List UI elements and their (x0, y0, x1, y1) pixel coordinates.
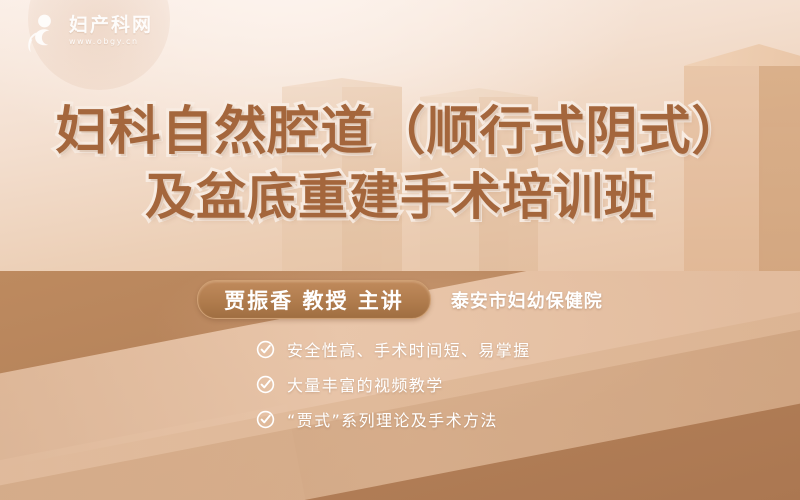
logo-title: 妇产科网 (69, 16, 153, 36)
cube-left-face (282, 87, 342, 271)
feature-list: 安全性高、手术时间短、易掌握 大量丰富的视频教学 “贾式”系列理论及手术方法 (0, 336, 800, 432)
check-circle-icon (256, 410, 275, 429)
speaker-organization: 泰安市妇幼保健院 (451, 287, 603, 313)
decorative-cube-small-center (420, 88, 538, 271)
cube-right-face (759, 66, 800, 271)
feature-label: 安全性高、手术时间短、易掌握 (287, 337, 531, 361)
logo-url: www.obgy.cn (69, 36, 153, 48)
cube-left-face (684, 66, 759, 271)
course-promo-banner: 妇产科网 www.obgy.cn 妇科自然腔道（顺行式阴式） 及盆底重建手术培训… (0, 0, 800, 500)
list-item: 大量丰富的视频教学 (256, 371, 444, 397)
mother-and-baby-icon (24, 12, 62, 52)
cube-right-face (342, 87, 402, 271)
speaker-badge: 贾振香 教授 主讲 (197, 280, 431, 319)
check-circle-icon (256, 340, 275, 359)
list-item: “贾式”系列理论及手术方法 (256, 406, 498, 432)
feature-label: “贾式”系列理论及手术方法 (287, 407, 498, 431)
feature-label: 大量丰富的视频教学 (287, 372, 444, 396)
site-logo[interactable]: 妇产科网 www.obgy.cn (24, 12, 153, 52)
cube-right-face (479, 97, 538, 271)
cube-left-face (420, 97, 479, 271)
decorative-cube-small-left (282, 78, 402, 271)
check-circle-icon (256, 375, 275, 394)
list-item: 安全性高、手术时间短、易掌握 (256, 336, 531, 362)
logo-text-block: 妇产科网 www.obgy.cn (69, 16, 153, 48)
speaker-row: 贾振香 教授 主讲 泰安市妇幼保健院 (0, 280, 800, 319)
decorative-cube-large-right (684, 44, 800, 271)
